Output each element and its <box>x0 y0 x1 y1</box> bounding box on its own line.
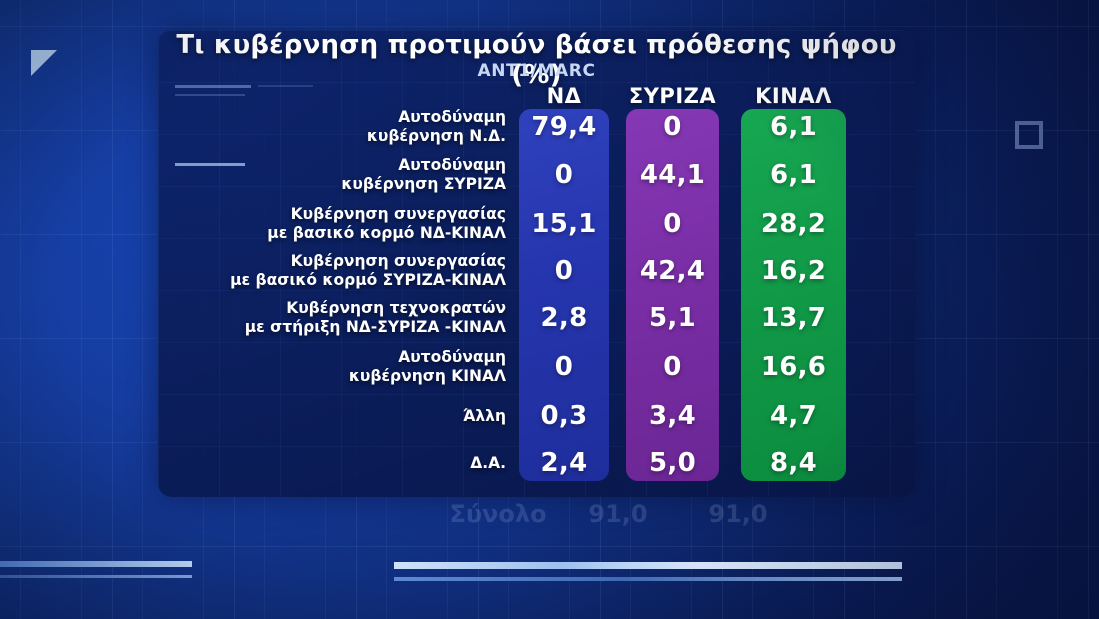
value-cell-syriza: 5,0 <box>626 439 719 487</box>
value-cell-syriza: 0 <box>626 103 719 151</box>
lower-third-bar-left-thin <box>0 575 192 578</box>
value-cell-nd: 2,8 <box>519 294 609 342</box>
row-label: Άλλη <box>190 407 506 426</box>
value-cell-kinal: 6,1 <box>741 103 846 151</box>
table-row: Κυβέρνηση τεχνοκρατών με στήριξη ΝΔ-ΣΥΡΙ… <box>190 294 506 342</box>
lower-third-bar-center <box>394 562 902 569</box>
row-label: Αυτοδύναμη κυβέρνηση ΚΙΝΑΛ <box>190 348 506 386</box>
panel-decor-line <box>175 94 245 96</box>
value-cell-kinal: 6,1 <box>741 151 846 199</box>
table-row: Αυτοδύναμη κυβέρνηση Ν.Δ. <box>190 103 506 151</box>
ghost-cell: 91,0 <box>678 500 798 528</box>
value-cell-syriza: 3,4 <box>626 392 719 440</box>
value-cell-nd: 0 <box>519 343 609 391</box>
square-outline-icon <box>1015 121 1043 149</box>
row-label: Κυβέρνηση τεχνοκρατών με στήριξη ΝΔ-ΣΥΡΙ… <box>190 299 506 337</box>
broadcast-poll-graphic: Τι κυβέρνηση προτιμούν βάσει πρόθεσης ψή… <box>0 0 1099 619</box>
value-cell-kinal: 16,6 <box>741 343 846 391</box>
value-cell-syriza: 0 <box>626 343 719 391</box>
row-label: Αυτοδύναμη κυβέρνηση ΣΥΡΙΖΑ <box>190 156 506 194</box>
value-cell-nd: 15,1 <box>519 200 609 248</box>
row-label: Κυβέρνηση συνεργασίας με βασικό κορμό ΝΔ… <box>190 205 506 243</box>
table-row: Κυβέρνηση συνεργασίας με βασικό κορμό ΣΥ… <box>190 247 506 295</box>
chart-subtitle: ANT1/MARC <box>158 61 915 81</box>
table-row: Άλλη <box>190 392 506 440</box>
row-label: Κυβέρνηση συνεργασίας με βασικό κορμό ΣΥ… <box>190 252 506 290</box>
triangle-icon <box>31 50 57 76</box>
lower-third-bar-center-thin <box>394 577 902 581</box>
row-label: Αυτοδύναμη κυβέρνηση Ν.Δ. <box>190 108 506 146</box>
value-cell-kinal: 28,2 <box>741 200 846 248</box>
value-cell-kinal: 8,4 <box>741 439 846 487</box>
value-cell-nd: 79,4 <box>519 103 609 151</box>
table-row: Αυτοδύναμη κυβέρνηση ΣΥΡΙΖΑ <box>190 151 506 199</box>
table-row: Αυτοδύναμη κυβέρνηση ΚΙΝΑΛ <box>190 343 506 391</box>
value-cell-kinal: 13,7 <box>741 294 846 342</box>
value-cell-syriza: 5,1 <box>626 294 719 342</box>
value-cell-nd: 0 <box>519 151 609 199</box>
ghost-row: Σύνολο 91,0 91,0 <box>158 500 915 528</box>
table-row: Δ.Α. <box>190 439 506 487</box>
value-cell-kinal: 4,7 <box>741 392 846 440</box>
value-cell-kinal: 16,2 <box>741 247 846 295</box>
value-cell-syriza: 42,4 <box>626 247 719 295</box>
value-cell-nd: 2,4 <box>519 439 609 487</box>
row-label: Δ.Α. <box>190 454 506 473</box>
value-cell-syriza: 44,1 <box>626 151 719 199</box>
value-cell-nd: 0,3 <box>519 392 609 440</box>
value-cell-syriza: 0 <box>626 200 719 248</box>
value-cell-nd: 0 <box>519 247 609 295</box>
lower-third-bar-left <box>0 561 192 567</box>
ghost-cell: Σύνολο <box>438 500 558 528</box>
table-row: Κυβέρνηση συνεργασίας με βασικό κορμό ΝΔ… <box>190 200 506 248</box>
chart-title: Τι κυβέρνηση προτιμούν βάσει πρόθεσης ψή… <box>158 30 915 90</box>
ghost-cell: 91,0 <box>558 500 678 528</box>
